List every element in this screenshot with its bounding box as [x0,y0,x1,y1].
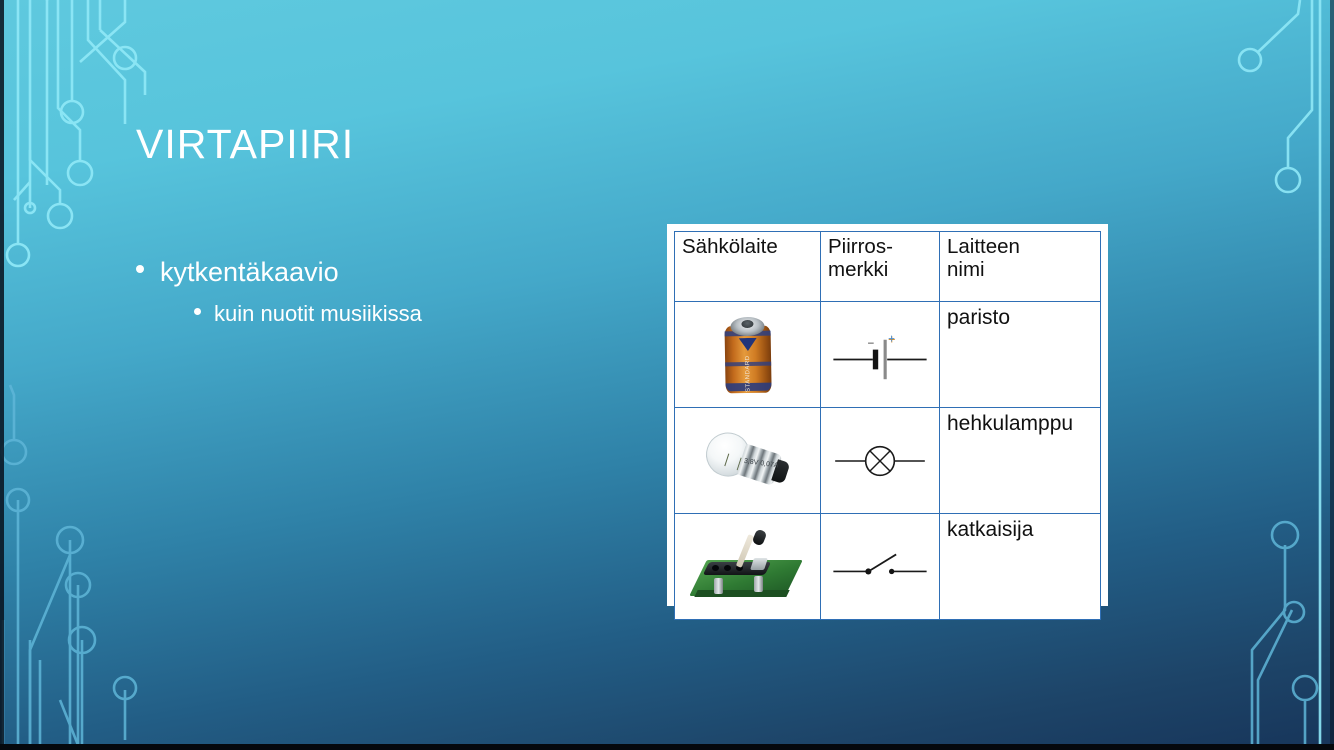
battery-photo-cell: STANDARD [675,302,821,408]
lightbulb-photo: 3,8V 0,07A [699,424,796,498]
header-line: Piirros- [828,236,932,259]
switch-photo-cell [675,514,821,620]
device-name-cell: katkaisija [940,514,1101,620]
switch-terminal-post [754,576,763,592]
table-header-row: Sähkölaite Piirros- merkki Laitteen nimi [675,232,1101,302]
bullet-item-level2: kuin nuotit musiikissa [188,300,632,328]
device-symbol-table-card: Sähkölaite Piirros- merkki Laitteen nimi [667,224,1108,606]
battery-symbol-cell: − + + [821,302,940,408]
switch-photo [696,530,800,604]
slide-edge-bottom [0,744,1334,750]
lamp-symbol-icon [828,430,932,492]
bullet-dot-icon [136,265,144,273]
header-line: Sähkölaite [682,236,813,259]
bullet-item-level1: kytkentäkaavio [132,256,632,290]
table-row: 3,8V 0,07A [675,408,1101,514]
header-line: merkki [828,259,932,282]
header-line: nimi [947,259,1093,282]
bullet-dot-icon [194,308,201,315]
lamp-symbol-cell [821,408,940,514]
bullet-text: kuin nuotit musiikissa [214,301,422,326]
table-row: katkaisija [675,514,1101,620]
switch-hole [724,565,731,571]
switch-hole [712,565,719,571]
switch-symbol-cell [821,514,940,620]
device-name-cell: hehkulamppu [940,408,1101,514]
bullet-text: kytkentäkaavio [160,257,339,287]
slide-edge-right [1330,0,1334,750]
battery-photo: STANDARD [724,317,771,394]
slide-edge-left [0,0,4,750]
table-header-symbol: Piirros- merkki [821,232,940,302]
device-name-cell: paristo [940,302,1101,408]
switch-terminal-post [714,578,723,594]
switch-symbol-icon [828,536,932,598]
switch-knob [751,528,767,546]
switch-base-edge [694,590,789,597]
bullet-list: kytkentäkaavio kuin nuotit musiikissa [132,256,632,327]
slide-canvas: VIRTAPIIRI kytkentäkaavio kuin nuotit mu… [0,0,1334,750]
svg-text:+: + [888,332,895,345]
battery-symbol-icon: − + + [828,324,932,386]
table-header-device: Sähkölaite [675,232,821,302]
device-symbol-table: Sähkölaite Piirros- merkki Laitteen nimi [674,231,1101,620]
battery-label: STANDARD [745,356,752,392]
battery-terminal [741,320,753,328]
lightbulb-photo-cell: 3,8V 0,07A [675,408,821,514]
table-header-name: Laitteen nimi [940,232,1101,302]
header-line: Laitteen [947,236,1093,259]
table-row: STANDARD [675,302,1101,408]
svg-text:−: − [867,337,874,350]
page-title: VIRTAPIIRI [136,121,354,168]
